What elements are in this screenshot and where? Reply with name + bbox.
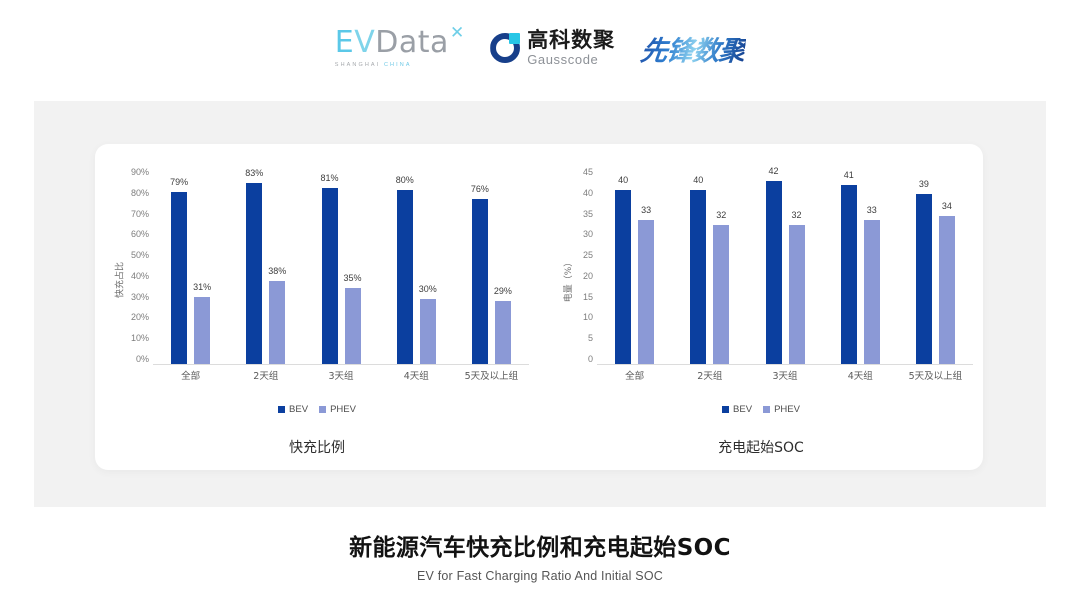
- chart-caption-right: 充电起始SOC: [539, 437, 983, 457]
- legend-item-phev: PHEV: [319, 404, 356, 415]
- bar-value-label: 29%: [494, 286, 512, 296]
- bar-phev: 34: [939, 216, 955, 364]
- bar-bev: 79%: [171, 192, 187, 364]
- bar-bev: 81%: [322, 188, 338, 364]
- y-tick: 60%: [131, 230, 149, 239]
- y-tick: 90%: [131, 168, 149, 177]
- bar-phev: 35%: [345, 288, 361, 364]
- legend-label-phev: PHEV: [330, 404, 356, 415]
- evdata-letter-v: V: [354, 28, 375, 58]
- gausscode-name-en: Gausscode: [527, 53, 615, 66]
- bar-value-label: 31%: [193, 282, 211, 292]
- legend-label-bev: BEV: [289, 404, 308, 415]
- bars-left: 79%31%83%38%81%35%80%30%76%29%: [153, 168, 529, 365]
- y-tick: 0%: [136, 355, 149, 364]
- gausscode-name-cn: 高科数聚: [527, 30, 615, 51]
- page-subtitle: EV for Fast Charging Ratio And Initial S…: [0, 569, 1080, 583]
- y-tick: 50%: [131, 251, 149, 260]
- bar-group: 81%35%: [303, 168, 378, 364]
- bar-value-label: 41: [844, 170, 854, 180]
- x-axis-categories-right: 全部2天组3天组4天组5天及以上组: [597, 368, 973, 384]
- y-tick: 10: [583, 313, 593, 322]
- bar-group: 76%29%: [454, 168, 529, 364]
- legend-item-phev: PHEV: [763, 404, 800, 415]
- y-tick: 15: [583, 293, 593, 302]
- bar-phev: 32: [789, 225, 805, 364]
- bar-value-label: 83%: [245, 168, 263, 178]
- plot-area-left: 快充占比 90% 80% 70% 60% 50% 40% 30% 20% 10%…: [95, 160, 539, 400]
- gausscode-logo: 高科数聚 Gausscode: [490, 30, 615, 66]
- x-axis-categories-left: 全部2天组3天组4天组5天及以上组: [153, 368, 529, 384]
- legend-label-bev: BEV: [733, 404, 752, 415]
- y-tick: 40%: [131, 272, 149, 281]
- bar-value-label: 39: [919, 179, 929, 189]
- bar-bev: 42: [766, 181, 782, 364]
- bar-value-label: 33: [867, 205, 877, 215]
- x-axis-category-label: 5天及以上组: [898, 368, 973, 384]
- bar-group: 4032: [672, 168, 747, 364]
- bars-right: 40334032423241333934: [597, 168, 973, 365]
- y-tick: 0: [588, 355, 593, 364]
- x-axis-category-label: 3天组: [303, 368, 378, 384]
- bar-value-label: 79%: [170, 177, 188, 187]
- evdata-tagline-shanghai: SHANGHAI: [335, 62, 381, 68]
- bar-value-label: 34: [942, 201, 952, 211]
- x-axis-category-label: 全部: [597, 368, 672, 384]
- bar-group: 83%38%: [228, 168, 303, 364]
- bar-bev: 83%: [246, 183, 262, 364]
- evdata-tagline-china: CHINA: [384, 62, 412, 68]
- gausscode-square-shape: [509, 33, 520, 44]
- xianfeng-logo: 先锋数聚: [641, 29, 745, 68]
- evdata-wordmark: E V Data ✕: [335, 28, 464, 58]
- bar-group: 4033: [597, 168, 672, 364]
- chart-initial-soc: 电量（%） 45 40 35 30 25 20 15 10 5 0 403340…: [539, 144, 983, 470]
- bar-phev: 33: [864, 220, 880, 364]
- plot-area-right: 电量（%） 45 40 35 30 25 20 15 10 5 0 403340…: [539, 160, 983, 400]
- bar-phev: 38%: [269, 281, 285, 364]
- bar-bev: 40: [615, 190, 631, 364]
- charts-row: 快充占比 90% 80% 70% 60% 50% 40% 30% 20% 10%…: [95, 144, 983, 470]
- gausscode-circle-icon: [490, 33, 520, 63]
- bar-value-label: 40: [618, 175, 628, 185]
- y-axis-ticks-left: 90% 80% 70% 60% 50% 40% 30% 20% 10% 0%: [115, 168, 149, 364]
- legend-item-bev: BEV: [722, 404, 752, 415]
- bar-group: 4133: [823, 168, 898, 364]
- chart-fast-charging-ratio: 快充占比 90% 80% 70% 60% 50% 40% 30% 20% 10%…: [95, 144, 539, 470]
- x-axis-category-label: 2天组: [228, 368, 303, 384]
- legend-label-phev: PHEV: [774, 404, 800, 415]
- bar-value-label: 81%: [320, 173, 338, 183]
- bar-value-label: 38%: [268, 266, 286, 276]
- bar-value-label: 42: [768, 166, 778, 176]
- x-axis-category-label: 2天组: [672, 368, 747, 384]
- evdata-letter-e: E: [335, 28, 354, 58]
- legend-swatch-phev-icon: [319, 406, 326, 413]
- bar-value-label: 80%: [396, 175, 414, 185]
- bar-phev: 29%: [495, 301, 511, 364]
- bar-bev: 40: [690, 190, 706, 364]
- y-axis-ticks-right: 45 40 35 30 25 20 15 10 5 0: [559, 168, 593, 364]
- footer: 新能源汽车快充比例和充电起始SOC EV for Fast Charging R…: [0, 528, 1080, 583]
- y-tick: 20: [583, 272, 593, 281]
- bar-phev: 32: [713, 225, 729, 364]
- bar-group: 79%31%: [153, 168, 228, 364]
- evdata-letters-data: Data: [375, 28, 449, 58]
- legend-right: BEV PHEV: [539, 404, 983, 415]
- bar-value-label: 32: [791, 210, 801, 220]
- y-tick: 30%: [131, 293, 149, 302]
- x-axis-category-label: 3天组: [747, 368, 822, 384]
- y-tick: 5: [588, 334, 593, 343]
- legend-item-bev: BEV: [278, 404, 308, 415]
- bar-value-label: 32: [716, 210, 726, 220]
- y-tick: 30: [583, 230, 593, 239]
- y-tick: 10%: [131, 334, 149, 343]
- bar-bev: 76%: [472, 199, 488, 365]
- evdata-cross-icon: ✕: [450, 23, 464, 43]
- y-tick: 20%: [131, 313, 149, 322]
- bar-group: 4232: [747, 168, 822, 364]
- x-axis-category-label: 5天及以上组: [454, 368, 529, 384]
- page-title: 新能源汽车快充比例和充电起始SOC: [0, 528, 1080, 562]
- x-axis-category-label: 全部: [153, 368, 228, 384]
- chart-caption-left: 快充比例: [95, 437, 539, 457]
- y-tick: 80%: [131, 189, 149, 198]
- evdata-logo: E V Data ✕ SHANGHAI CHINA: [335, 28, 464, 68]
- legend-swatch-phev-icon: [763, 406, 770, 413]
- y-tick: 35: [583, 210, 593, 219]
- bar-group: 80%30%: [379, 168, 454, 364]
- bar-value-label: 35%: [343, 273, 361, 283]
- x-axis-category-label: 4天组: [379, 368, 454, 384]
- bar-phev: 33: [638, 220, 654, 364]
- y-tick: 40: [583, 189, 593, 198]
- bar-bev: 39: [916, 194, 932, 364]
- bar-phev: 31%: [194, 297, 210, 365]
- bar-value-label: 30%: [419, 284, 437, 294]
- bar-value-label: 40: [693, 175, 703, 185]
- y-tick: 25: [583, 251, 593, 260]
- bar-group: 3934: [898, 168, 973, 364]
- legend-swatch-bev-icon: [722, 406, 729, 413]
- bar-bev: 80%: [397, 190, 413, 364]
- logo-bar: E V Data ✕ SHANGHAI CHINA 高科数聚 Gausscode…: [0, 0, 1080, 96]
- bar-bev: 41: [841, 185, 857, 364]
- bar-phev: 30%: [420, 299, 436, 364]
- x-axis-category-label: 4天组: [823, 368, 898, 384]
- legend-left: BEV PHEV: [95, 404, 539, 415]
- evdata-tagline: SHANGHAI CHINA: [335, 62, 412, 68]
- xianfeng-name-cn: 先锋数聚: [639, 29, 748, 68]
- legend-swatch-bev-icon: [278, 406, 285, 413]
- bar-value-label: 76%: [471, 184, 489, 194]
- y-tick: 70%: [131, 210, 149, 219]
- y-tick: 45: [583, 168, 593, 177]
- gausscode-wordmark: 高科数聚 Gausscode: [527, 30, 615, 66]
- bar-value-label: 33: [641, 205, 651, 215]
